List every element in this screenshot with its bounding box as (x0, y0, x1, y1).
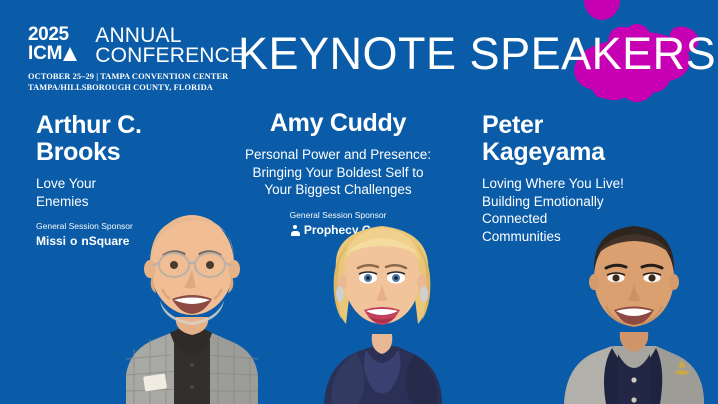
conference-dates: OCTOBER 25–29 | TAMPA CONVENTION CENTER … (28, 72, 218, 93)
conference-dates-line1: OCTOBER 25–29 | TAMPA CONVENTION CENTER (28, 72, 218, 83)
speaker-name-line2: Kageyama (482, 139, 662, 166)
speaker-photo-peter-kageyama (548, 208, 718, 404)
speaker-name-line1: Peter (482, 112, 662, 139)
logo-delta-icon (63, 47, 77, 61)
logo-year: 2025 (28, 26, 77, 44)
logo-annual: ANNUAL (95, 26, 244, 46)
speaker-photo-amy-cuddy (302, 204, 462, 404)
speaker-name: Amy Cuddy (238, 110, 438, 137)
petal-dot-icon (584, 0, 620, 20)
speaker-name: Arthur C. Brooks (36, 112, 211, 166)
speaker-talk-line1: Personal Power and Presence: (238, 146, 438, 164)
speaker-photo-arthur-brooks (108, 189, 273, 404)
speaker-talk-line2: Bringing Your Boldest Self to (238, 164, 438, 182)
speaker-name-line1: Arthur C. (36, 112, 211, 139)
page-title: KEYNOTE SPEAKERS (238, 28, 716, 80)
logo-org-text: ICM (28, 44, 62, 63)
speaker-talk-line1: Loving Where You Live! (482, 175, 662, 193)
logo-org: ICM (28, 44, 77, 63)
logo-conference: CONFERENCE (95, 46, 244, 66)
conference-dates-line2: TAMPA/HILLSBOROUGH COUNTY, FLORIDA (28, 83, 218, 94)
icma-conference-logo: 2025 ICM ANNUAL CONFERENCE OCTOBER 25–29… (28, 26, 218, 93)
poster-canvas: 2025 ICM ANNUAL CONFERENCE OCTOBER 25–29… (0, 0, 718, 404)
speaker-name-line2: Brooks (36, 139, 211, 166)
person-icon (291, 225, 300, 236)
speaker-name: Peter Kageyama (482, 112, 662, 166)
sponsor-name-dot: o (70, 234, 77, 249)
sponsor-name-part1: Missi (36, 234, 66, 249)
